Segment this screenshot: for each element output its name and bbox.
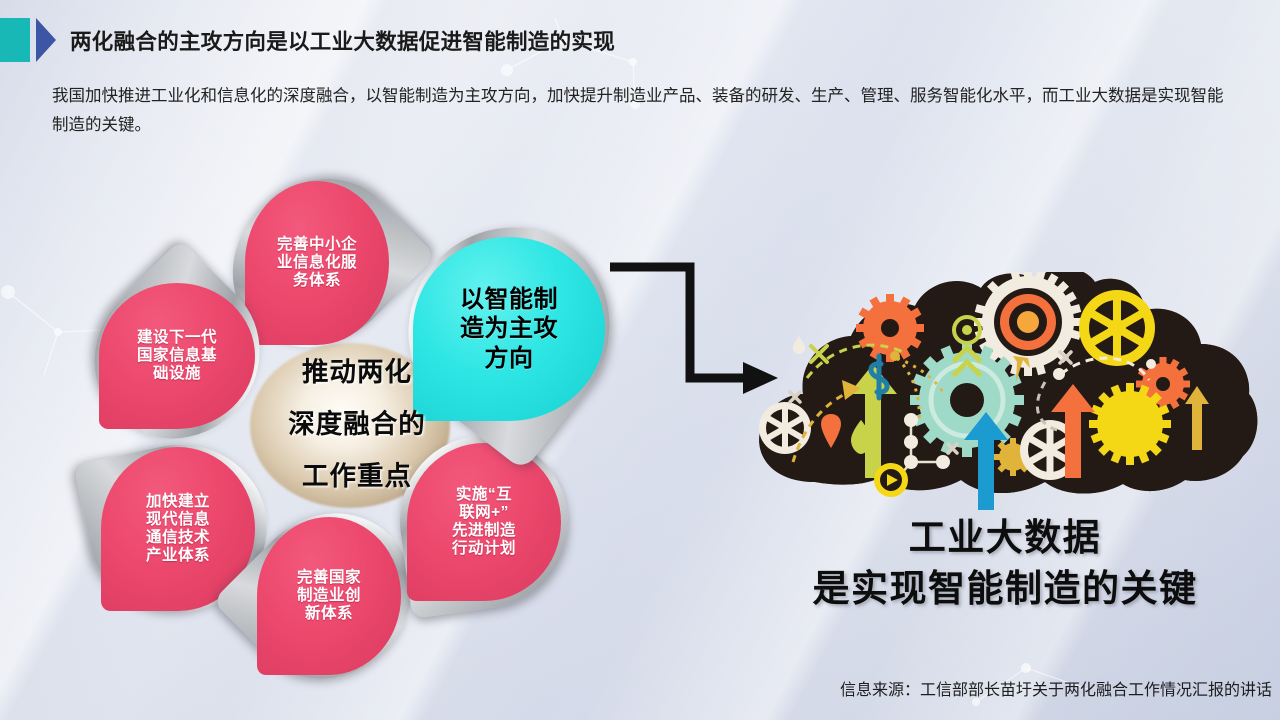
petal-flower-diagram: 完善中小企 业信息化服 务体系 建设下一代 国家信息基 础设施 加快建立 现代信… (90, 168, 610, 660)
page-title: 两化融合的主攻方向是以工业大数据促进智能制造的实现 (70, 25, 615, 56)
petal-face: 完善中小企 业信息化服 务体系 (245, 181, 389, 345)
node-dot (936, 455, 950, 469)
petal-bottom-right[interactable]: 实施“互 联网+” 先进制造 行动计划 (389, 425, 579, 619)
title-bar: 两化融合的主攻方向是以工业大数据促进智能制造的实现 (0, 18, 615, 62)
accent-block-icon (0, 18, 30, 62)
source-note: 信息来源：工信部部长苗圩关于两化融合工作情况汇报的讲话 (840, 676, 1272, 700)
dot-fan-origin (890, 351, 900, 361)
petal-label: 加快建立 现代信息 通信技术 产业体系 (146, 493, 210, 565)
wheel-yellow (1079, 290, 1155, 366)
accent-arrow-icon (36, 18, 56, 62)
slide-canvas: 两化融合的主攻方向是以工业大数据促进智能制造的实现 我国加快推进工业化和信息化的… (0, 0, 1280, 720)
cloud-headline: 工业大数据 是实现智能制造的关键 (735, 512, 1275, 614)
petal-label: 完善中小企 业信息化服 务体系 (277, 236, 357, 290)
play-button-icon (874, 463, 908, 497)
node-dot (904, 455, 918, 469)
petal-label: 完善国家 制造业创 新体系 (297, 569, 361, 623)
dot-arc-right-2 (1146, 359, 1156, 369)
petal-face: 建设下一代 国家信息基 础设施 (99, 283, 255, 429)
cloud-gears-illustration (745, 272, 1265, 517)
node-dot (904, 413, 918, 427)
petal-face: 实施“互 联网+” 先进制造 行动计划 (407, 443, 561, 601)
node-dot (904, 435, 918, 449)
subtitle-paragraph: 我国加快推进工业化和信息化的深度融合，以智能制造为主攻方向，加快提升制造业产品、… (52, 82, 1232, 140)
wheel-cream-left (759, 402, 811, 454)
petal-face: 完善国家 制造业创 新体系 (257, 517, 401, 675)
petal-label: 实施“互 联网+” 先进制造 行动计划 (452, 486, 516, 558)
petal-label: 以智能制 造为主攻 方向 (460, 285, 558, 373)
petal-face: 以智能制 造为主攻 方向 (413, 237, 605, 421)
dot-arc-right (1053, 368, 1065, 380)
petal-label: 建设下一代 国家信息基 础设施 (137, 329, 217, 383)
droplet-white (793, 336, 805, 354)
